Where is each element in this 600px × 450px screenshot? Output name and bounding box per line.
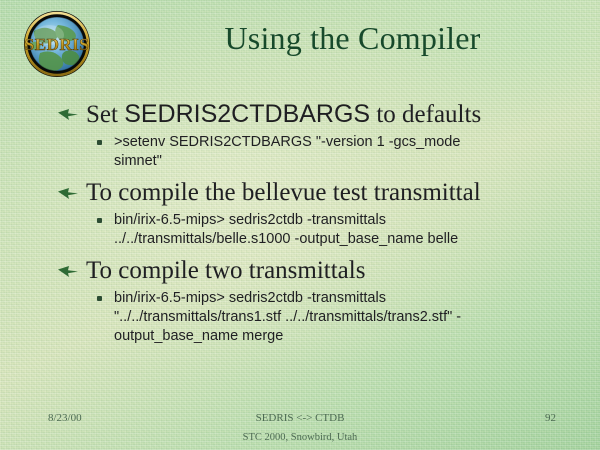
footer-center-label: SEDRIS <-> CTDB xyxy=(0,412,600,424)
footer-page-number: 92 xyxy=(545,412,556,424)
slide-title: Using the Compiler xyxy=(120,18,585,58)
arrow-bullet-icon xyxy=(58,108,78,121)
code-line: output_base_name merge xyxy=(114,327,572,346)
bullet-level2: bin/irix-6.5-mips> sedris2ctdb -transmit… xyxy=(56,289,572,346)
code-line: bin/irix-6.5-mips> sedris2ctdb -transmit… xyxy=(114,211,572,230)
arrow-bullet-icon xyxy=(58,187,78,200)
code-line: bin/irix-6.5-mips> sedris2ctdb -transmit… xyxy=(114,289,572,308)
code-line: "../../transmittals/trans1.stf ../../tra… xyxy=(114,308,572,327)
square-bullet-icon xyxy=(97,218,102,223)
bullet-text-before: To compile two transmittals xyxy=(86,257,365,284)
slide-footer: 8/23/00 SEDRIS <-> CTDB 92 STC 2000, Sno… xyxy=(0,402,600,450)
code-line: simnet" xyxy=(114,152,572,171)
slide-content: SEDRIS Using the Compiler Set SEDRIS2CTD… xyxy=(0,0,600,450)
square-bullet-icon xyxy=(97,296,102,301)
square-bullet-icon xyxy=(97,140,102,145)
bullet-text-after: to defaults xyxy=(370,101,481,128)
bullet-term: SEDRIS2CTDBARGS xyxy=(124,100,370,128)
bullet-level1: To compile two transmittals xyxy=(56,256,572,286)
bullet-text-before: To compile the bellevue test transmittal xyxy=(86,179,481,206)
bullet-text-before: Set xyxy=(86,101,124,128)
bullet-group: To compile two transmittals bin/irix-6.5… xyxy=(56,256,572,346)
presentation-slide: SEDRIS Using the Compiler Set SEDRIS2CTD… xyxy=(0,0,600,450)
bullet-group: To compile the bellevue test transmittal… xyxy=(56,178,572,249)
bullet-level2: >setenv SEDRIS2CTDBARGS "-version 1 -gcs… xyxy=(56,133,572,171)
arrow-bullet-icon xyxy=(58,265,78,278)
logo-wordmark: SEDRIS xyxy=(25,35,89,54)
sedris-globe-logo: SEDRIS xyxy=(16,9,98,79)
code-line: >setenv SEDRIS2CTDBARGS "-version 1 -gcs… xyxy=(114,133,572,152)
footer-row: 8/23/00 SEDRIS <-> CTDB 92 xyxy=(0,412,600,426)
slide-body: Set SEDRIS2CTDBARGS to defaults >setenv … xyxy=(56,99,572,353)
bullet-level1: Set SEDRIS2CTDBARGS to defaults xyxy=(56,99,572,130)
bullet-group: Set SEDRIS2CTDBARGS to defaults >setenv … xyxy=(56,99,572,171)
bullet-level1: To compile the bellevue test transmittal xyxy=(56,178,572,208)
footer-subtitle: STC 2000, Snowbird, Utah xyxy=(0,432,600,443)
code-line: ../../transmittals/belle.s1000 -output_b… xyxy=(114,230,572,249)
bullet-level2: bin/irix-6.5-mips> sedris2ctdb -transmit… xyxy=(56,211,572,249)
